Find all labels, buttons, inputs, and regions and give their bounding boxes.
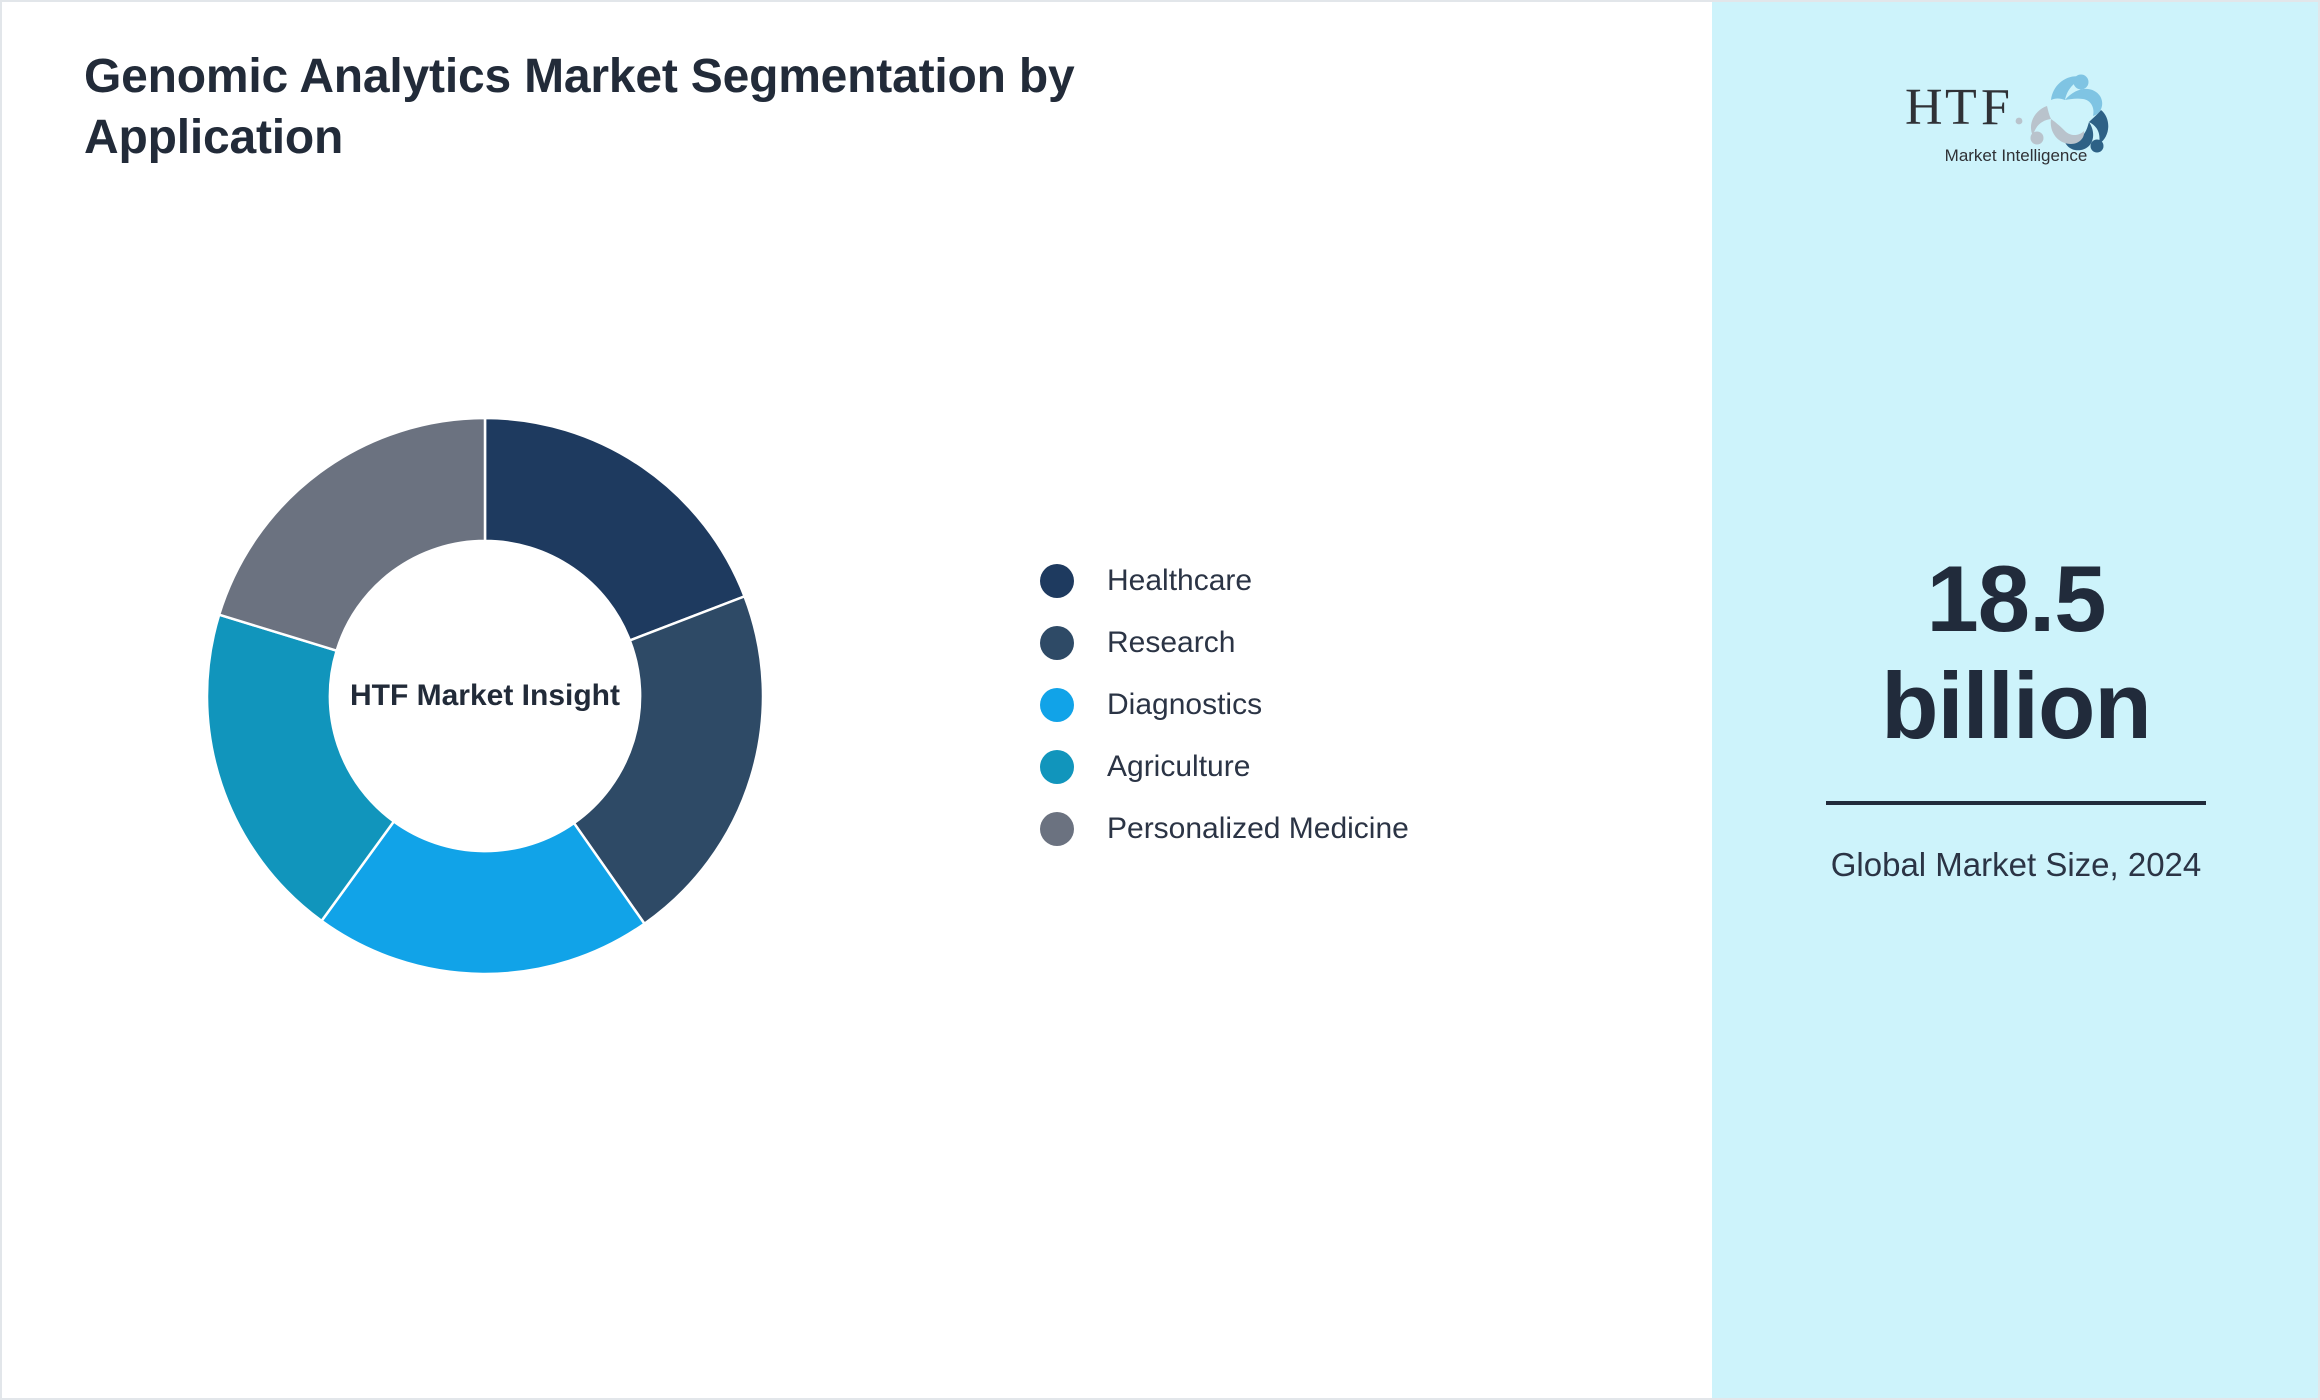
legend-item[interactable]: Agriculture <box>1040 736 1560 798</box>
svg-text:Market Intelligence: Market Intelligence <box>1945 146 2088 165</box>
legend-dot-icon <box>1040 688 1074 722</box>
htf-triskelion-logo-icon: H T F Market Intell <box>1901 62 2131 166</box>
page-title: Genomic Analytics Market Segmentation by… <box>84 46 1084 169</box>
svg-text:T: T <box>1945 79 1977 136</box>
infographic-canvas: Genomic Analytics Market Segmentation by… <box>0 0 2320 1400</box>
legend-dot-icon <box>1040 626 1074 660</box>
legend-item[interactable]: Healthcare <box>1040 550 1560 612</box>
legend-item-label: Personalized Medicine <box>1107 814 1409 844</box>
donut-chart: HTF Market Insight <box>207 418 763 974</box>
donut-segment[interactable] <box>485 418 745 640</box>
legend-dot-icon <box>1040 750 1074 784</box>
legend-item[interactable]: Diagnostics <box>1040 674 1560 736</box>
legend-item[interactable]: Research <box>1040 612 1560 674</box>
market-size-stat: 18.5 billion Global Market Size, 2024 <box>1786 545 2246 887</box>
donut-segment[interactable] <box>219 418 485 651</box>
chart-panel: Genomic Analytics Market Segmentation by… <box>0 0 1712 1400</box>
legend-item-label: Healthcare <box>1107 566 1252 596</box>
chart-legend: HealthcareResearchDiagnosticsAgriculture… <box>1040 550 1560 860</box>
svg-text:H: H <box>1905 79 1943 136</box>
stat-caption: Global Market Size, 2024 <box>1786 843 2246 887</box>
stat-sidebar: H T F Market Intell <box>1712 0 2320 1400</box>
legend-item-label: Diagnostics <box>1107 690 1262 720</box>
brand-logo[interactable]: H T F Market Intell <box>1886 62 2146 166</box>
legend-dot-icon <box>1040 564 1074 598</box>
stat-unit: billion <box>1786 652 2246 759</box>
legend-item-label: Agriculture <box>1107 752 1250 782</box>
stat-divider <box>1826 801 2206 805</box>
legend-item-label: Research <box>1107 628 1235 658</box>
stat-value: 18.5 <box>1786 545 2246 652</box>
svg-text:F: F <box>1981 79 2010 136</box>
legend-item[interactable]: Personalized Medicine <box>1040 798 1560 860</box>
donut-chart-svg <box>207 418 763 974</box>
legend-dot-icon <box>1040 812 1074 846</box>
